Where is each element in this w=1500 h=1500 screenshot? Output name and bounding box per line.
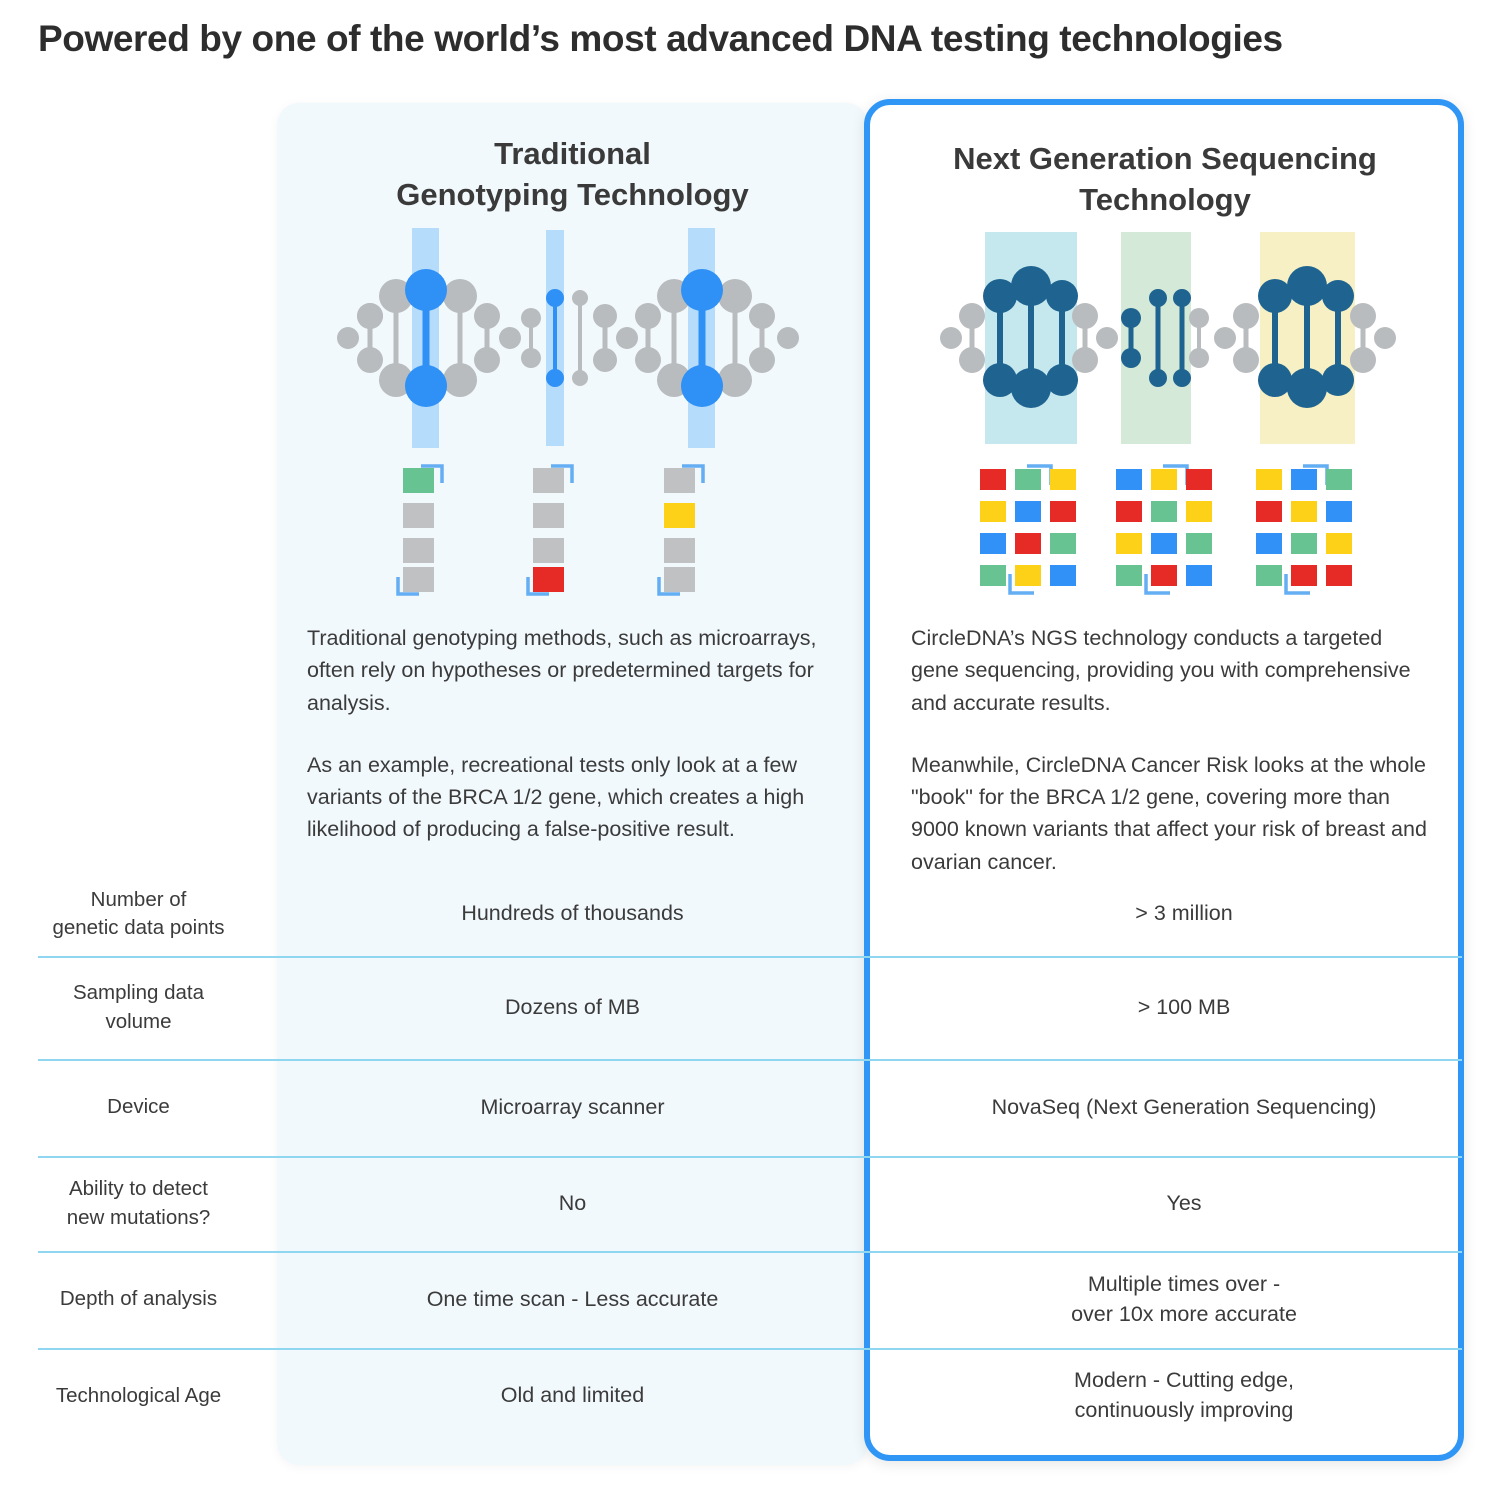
- row-divider: [38, 1251, 1462, 1253]
- ngs-readout-grid: [965, 460, 1375, 600]
- row-value-ngs-line1: Modern - Cutting edge,: [868, 1366, 1500, 1396]
- column-title-traditional-line2: Genotyping Technology: [300, 174, 845, 215]
- row-label-line1: Number of: [0, 886, 277, 914]
- traditional-genotyping-description: Traditional genotyping methods, such as …: [307, 622, 842, 846]
- ngs-dna-illustration: [935, 228, 1405, 448]
- row-value-ngs: > 3 million: [868, 899, 1500, 929]
- row-value-ngs: NovaSeq (Next Generation Sequencing): [868, 1093, 1500, 1123]
- ngs-paragraph-1: CircleDNA’s NGS technology conducts a ta…: [911, 622, 1431, 719]
- row-value-traditional: Microarray scanner: [277, 1093, 868, 1123]
- row-label-line1: Technological Age: [0, 1382, 277, 1410]
- row-value-ngs-line2: continuously improving: [868, 1396, 1500, 1426]
- traditional-paragraph-1: Traditional genotyping methods, such as …: [307, 622, 842, 719]
- traditional-genotyping-readout-grid: [395, 460, 735, 600]
- row-label: Ability to detect new mutations?: [0, 1175, 277, 1232]
- row-value-ngs: Yes: [868, 1189, 1500, 1219]
- row-value-ngs-line1: Multiple times over -: [868, 1270, 1500, 1300]
- row-divider: [38, 1156, 1462, 1158]
- row-label: Number of genetic data points: [0, 886, 277, 943]
- traditional-genotyping-dna-illustration: [330, 228, 810, 448]
- column-title-ngs: Next Generation Sequencing Technology: [885, 138, 1445, 220]
- column-title-ngs-line1: Next Generation Sequencing: [885, 138, 1445, 179]
- row-value-traditional: One time scan - Less accurate: [277, 1285, 868, 1315]
- ngs-paragraph-2: Meanwhile, CircleDNA Cancer Risk looks a…: [911, 749, 1431, 878]
- column-title-traditional: Traditional Genotyping Technology: [300, 133, 845, 215]
- table-row: Number of genetic data points Hundreds o…: [0, 872, 1500, 956]
- row-label-line2: new mutations?: [0, 1204, 277, 1232]
- table-row: Technological Age Old and limited Modern…: [0, 1348, 1500, 1444]
- row-label: Device: [0, 1093, 277, 1121]
- row-label-line1: Sampling data: [0, 979, 277, 1007]
- ngs-description: CircleDNA’s NGS technology conducts a ta…: [911, 622, 1431, 878]
- row-label-line1: Device: [0, 1093, 277, 1121]
- row-value-ngs: Multiple times over - over 10x more accu…: [868, 1270, 1500, 1329]
- row-label-line2: genetic data points: [0, 914, 277, 942]
- row-value-ngs-line2: over 10x more accurate: [868, 1300, 1500, 1330]
- row-divider: [38, 1059, 1462, 1061]
- column-title-traditional-line1: Traditional: [300, 133, 845, 174]
- row-value-traditional: Dozens of MB: [277, 993, 868, 1023]
- row-value-traditional: Hundreds of thousands: [277, 899, 868, 929]
- row-divider: [38, 1348, 1462, 1350]
- row-label-line1: Depth of analysis: [0, 1285, 277, 1313]
- row-label-line1: Ability to detect: [0, 1175, 277, 1203]
- table-row: Depth of analysis One time scan - Less a…: [0, 1251, 1500, 1348]
- table-row: Device Microarray scanner NovaSeq (Next …: [0, 1059, 1500, 1156]
- row-value-traditional: No: [277, 1189, 868, 1219]
- row-label: Sampling data volume: [0, 979, 277, 1036]
- row-label: Depth of analysis: [0, 1285, 277, 1313]
- row-label: Technological Age: [0, 1382, 277, 1410]
- row-value-traditional: Old and limited: [277, 1381, 868, 1411]
- comparison-infographic: Powered by one of the world’s most advan…: [0, 0, 1500, 1500]
- column-title-ngs-line2: Technology: [885, 179, 1445, 220]
- row-value-ngs: Modern - Cutting edge, continuously impr…: [868, 1366, 1500, 1425]
- row-label-line2: volume: [0, 1008, 277, 1036]
- table-row: Sampling data volume Dozens of MB > 100 …: [0, 956, 1500, 1059]
- comparison-table: Number of genetic data points Hundreds o…: [0, 872, 1500, 1444]
- traditional-paragraph-2: As an example, recreational tests only l…: [307, 749, 842, 846]
- row-value-ngs: > 100 MB: [868, 993, 1500, 1023]
- row-divider: [38, 956, 1462, 958]
- page-title: Powered by one of the world’s most advan…: [38, 18, 1468, 60]
- table-row: Ability to detect new mutations? No Yes: [0, 1156, 1500, 1251]
